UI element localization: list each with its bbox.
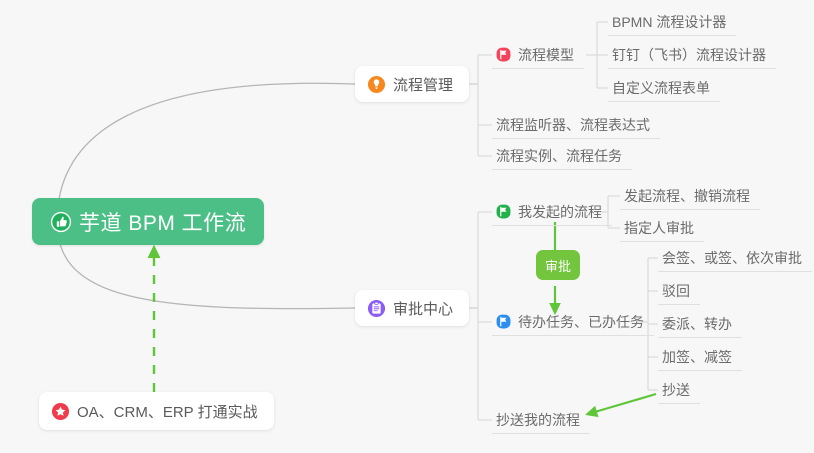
- label-start-cancel-process: 发起流程、撤销流程: [624, 186, 750, 206]
- label-cc-to-me-process: 抄送我的流程: [496, 410, 580, 430]
- node-countersign-orsign-sequential[interactable]: 会签、或签、依次审批: [658, 244, 812, 272]
- mindmap-canvas: 芋道 BPM 工作流 流程管理 流程模型 BPMN 流程设计器 钉钉（飞书）流程: [0, 0, 814, 453]
- node-process-listener-expression[interactable]: 流程监听器、流程表达式: [492, 111, 660, 139]
- star-red-icon: [51, 402, 70, 421]
- label-process-instance-task: 流程实例、流程任务: [496, 146, 622, 166]
- tag-label-approval: 审批: [545, 256, 571, 275]
- label-custom-process-form: 自定义流程表单: [612, 78, 710, 98]
- label-delegate-transfer: 委派、转办: [662, 314, 732, 334]
- node-reject[interactable]: 驳回: [658, 277, 700, 305]
- label-my-initiated-process: 我发起的流程: [518, 202, 602, 222]
- node-designated-approver[interactable]: 指定人审批: [620, 214, 704, 242]
- label-bpmn-designer: BPMN 流程设计器: [612, 12, 726, 32]
- node-custom-process-form[interactable]: 自定义流程表单: [608, 74, 720, 102]
- node-bpmn-designer[interactable]: BPMN 流程设计器: [608, 8, 736, 36]
- branch-label-process-management: 流程管理: [393, 74, 453, 95]
- node-delegate-transfer[interactable]: 委派、转办: [658, 310, 742, 338]
- note-label-integration: OA、CRM、ERP 打通实战: [77, 401, 258, 422]
- thumbs-up-icon: [50, 211, 72, 233]
- edge-green-cc-to-cc-my-process: [588, 394, 656, 414]
- tag-node-approval[interactable]: 审批: [536, 250, 580, 280]
- label-carbon-copy: 抄送: [662, 380, 690, 400]
- label-process-listener-expression: 流程监听器、流程表达式: [496, 115, 650, 135]
- label-designated-approver: 指定人审批: [624, 218, 694, 238]
- flag-green-icon: [496, 204, 511, 219]
- flag-red-icon: [496, 47, 511, 62]
- node-process-model[interactable]: 流程模型: [492, 41, 584, 69]
- root-node[interactable]: 芋道 BPM 工作流: [32, 198, 264, 245]
- note-node-integration[interactable]: OA、CRM、ERP 打通实战: [39, 392, 274, 430]
- label-countersign-orsign-sequential: 会签、或签、依次审批: [662, 248, 802, 268]
- branch-node-process-management[interactable]: 流程管理: [355, 66, 469, 102]
- root-label: 芋道 BPM 工作流: [79, 207, 246, 237]
- flag-blue-icon: [496, 314, 511, 329]
- node-dingtalk-feishu-designer[interactable]: 钉钉（飞书）流程设计器: [608, 41, 776, 69]
- node-cc-to-me-process[interactable]: 抄送我的流程: [492, 406, 590, 434]
- node-carbon-copy[interactable]: 抄送: [658, 376, 700, 404]
- clipboard-purple-icon: [367, 299, 386, 318]
- node-my-initiated-process[interactable]: 我发起的流程: [492, 198, 612, 226]
- label-dingtalk-feishu-designer: 钉钉（飞书）流程设计器: [612, 45, 766, 65]
- node-todo-done-tasks[interactable]: 待办任务、已办任务: [492, 308, 654, 336]
- branch-node-approval-center[interactable]: 审批中心: [355, 290, 469, 326]
- label-add-remove-sign: 加签、减签: [662, 347, 732, 367]
- label-todo-done-tasks: 待办任务、已办任务: [518, 312, 644, 332]
- branch-label-approval-center: 审批中心: [393, 298, 453, 319]
- node-add-remove-sign[interactable]: 加签、减签: [658, 343, 742, 371]
- node-process-instance-task[interactable]: 流程实例、流程任务: [492, 142, 632, 170]
- label-process-model: 流程模型: [518, 45, 574, 65]
- label-reject: 驳回: [662, 281, 690, 301]
- node-start-cancel-process[interactable]: 发起流程、撤销流程: [620, 182, 760, 210]
- lightbulb-pin-icon: [367, 75, 386, 94]
